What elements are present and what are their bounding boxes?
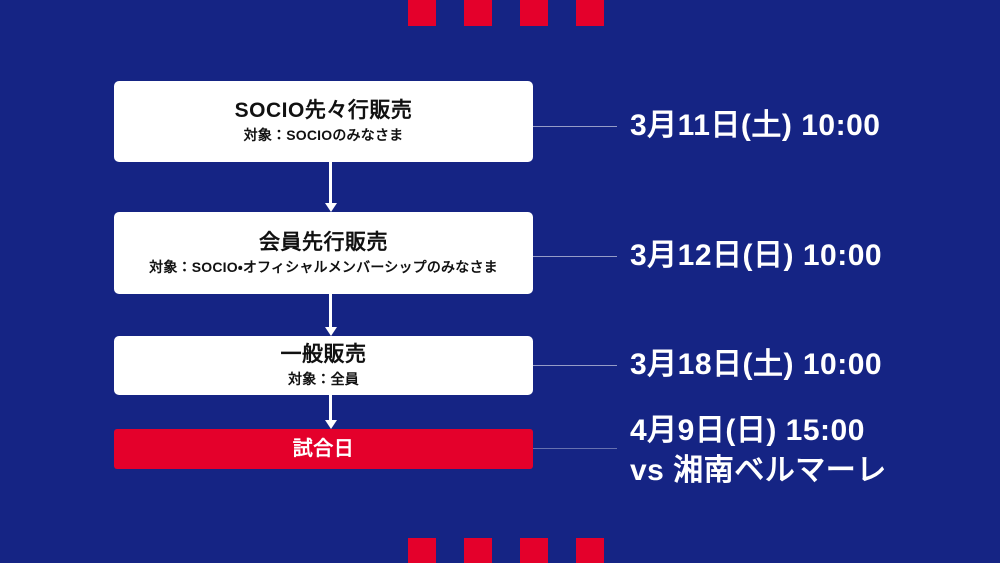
match-day-datetime: 4月9日(日) 15:00 [630, 414, 865, 447]
sales-phase-box-member: 会員先行販売 対象：SOCIO・オフィシャルメンバーシップのみなさま [114, 212, 533, 294]
match-day-date: 4月9日(日) 15:00 vs 湘南ベルマーレ [630, 413, 887, 489]
sales-phase-date-member: 3月12日(日) 10:00 [630, 238, 882, 274]
down-arrow-icon [329, 395, 332, 420]
down-arrow-icon [329, 294, 332, 327]
match-day-title: 試合日 [293, 438, 355, 461]
sales-phase-subtitle: 対象：SOCIO・オフィシャルメンバーシップのみなさま [149, 259, 498, 276]
red-square-decoration [464, 538, 492, 563]
sales-phase-date-general: 3月18日(土) 10:00 [630, 347, 882, 383]
leader-line [533, 365, 617, 366]
red-square-decoration [576, 538, 604, 563]
sales-phase-title: SOCIO先々行販売 [235, 99, 413, 123]
red-square-decoration [408, 538, 436, 563]
bottom-red-square-strip [0, 538, 1000, 563]
ticket-schedule-graphic: SOCIO先々行販売 対象：SOCIOのみなさま 3月11日(土) 10:00 … [0, 0, 1000, 563]
sales-phase-box-general: 一般販売 対象：全員 [114, 336, 533, 395]
red-square-decoration [464, 0, 492, 26]
leader-line [533, 448, 617, 449]
red-square-decoration [520, 538, 548, 563]
sales-phase-subtitle: 対象：全員 [288, 371, 359, 388]
red-square-decoration [576, 0, 604, 26]
leader-line [533, 256, 617, 257]
match-day-opponent: vs 湘南ベルマーレ [630, 453, 887, 489]
sales-phase-box-socio: SOCIO先々行販売 対象：SOCIOのみなさま [114, 81, 533, 162]
red-square-decoration [408, 0, 436, 26]
leader-line [533, 126, 617, 127]
match-day-box: 試合日 [114, 429, 533, 469]
sales-phase-title: 一般販売 [281, 343, 367, 367]
sales-phase-title: 会員先行販売 [259, 231, 388, 255]
red-square-decoration [520, 0, 548, 26]
sales-phase-date-socio: 3月11日(土) 10:00 [630, 108, 880, 144]
top-red-square-strip [0, 0, 1000, 26]
down-arrow-icon [329, 162, 332, 203]
sales-phase-subtitle: 対象：SOCIOのみなさま [244, 127, 404, 144]
